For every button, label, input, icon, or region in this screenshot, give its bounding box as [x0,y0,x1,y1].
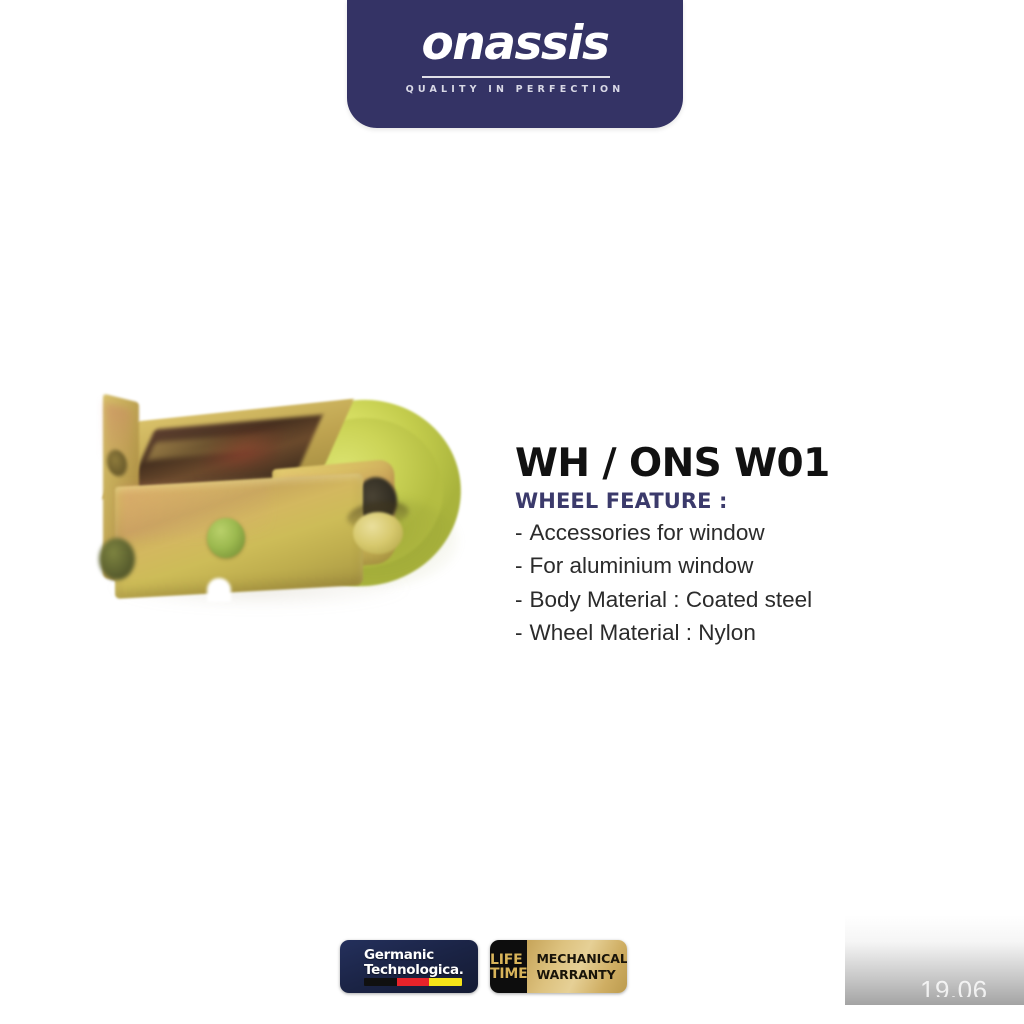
bullet-dash: - [515,553,523,578]
brand-underline [422,76,610,78]
feature-heading: WHEEL FEATURE : [515,489,975,513]
germanic-badge-text: Germanic Technologica. [364,948,464,978]
front-plate-notch [207,578,231,602]
body-rivet [207,518,245,558]
product-card: onassis TM QUALITY IN PERFECTION WH / ON… [0,0,1024,1024]
list-item: -Wheel Material : Nylon [515,616,975,650]
feature-text: For aluminium window [530,553,754,578]
brand-tagline: QUALITY IN PERFECTION [347,84,683,95]
product-spec-block: WH / ONS W01 WHEEL FEATURE : -Accessorie… [515,444,975,650]
bullet-dash: - [515,620,523,645]
flag-stripe-black [364,978,397,986]
feature-text: Wheel Material : Nylon [530,620,756,645]
mechanical-warranty-label: MECHANICAL WARRANTY [536,951,627,982]
product-code: WH / ONS W01 [515,444,975,485]
lifetime-label: LIFE TIME [490,953,527,981]
product-photo [95,392,485,642]
list-item: -Accessories for window [515,516,975,550]
lifetime-warranty-badge: LIFE TIME MECHANICAL WARRANTY [490,940,627,993]
brand-banner: onassis TM QUALITY IN PERFECTION [347,0,683,128]
feature-list: -Accessories for window -For aluminium w… [515,516,975,650]
certification-badge-row: Germanic Technologica. LIFE TIME MECHANI… [340,940,630,994]
brand-wordmark: onassis [347,20,683,67]
flag-stripe-gold [429,978,462,986]
timestamp-watermark: 19.06 [920,975,988,997]
list-item: -Body Material : Coated steel [515,583,975,617]
bullet-dash: - [515,587,523,612]
flag-stripe-red [397,978,430,986]
feature-text: Accessories for window [530,520,765,545]
wheel-axle-rivet [353,512,403,554]
list-item: -For aluminium window [515,549,975,583]
feature-text: Body Material : Coated steel [530,587,813,612]
lower-roller-nub [99,538,135,580]
bracket-front-sheen [119,480,269,540]
mechanical-warranty-panel: MECHANICAL WARRANTY [527,940,627,993]
bullet-dash: - [515,520,523,545]
german-flag-icon [364,978,462,986]
lifetime-panel: LIFE TIME [490,940,527,993]
germanic-technologica-badge: Germanic Technologica. [340,940,478,993]
